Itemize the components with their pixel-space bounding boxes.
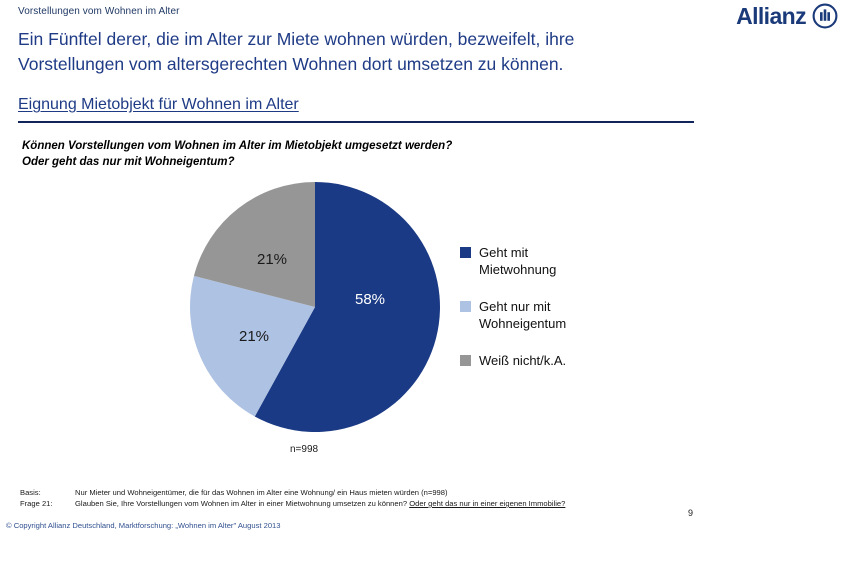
legend-item[interactable]: Geht nur mit Wohneigentum	[460, 298, 660, 332]
legend-item[interactable]: Geht mit Mietwohnung	[460, 244, 660, 278]
legend-item[interactable]: Weiß nicht/k.A.	[460, 352, 660, 369]
footnote-value: Nur Mieter und Wohneigentümer, die für d…	[75, 487, 565, 498]
sample-size-label: n=998	[290, 444, 318, 455]
legend-label: Weiß nicht/k.A.	[479, 352, 566, 369]
legend-swatch-icon	[460, 355, 471, 366]
footnote-key: Frage 21:	[20, 498, 75, 509]
page-title: Ein Fünftel derer, die im Alter zur Miet…	[18, 27, 708, 77]
section-heading: Eignung Mietobjekt für Wohnen im Alter	[18, 96, 299, 114]
pie-label-primary: 58%	[355, 291, 385, 308]
legend-label: Geht nur mit Wohneigentum	[479, 298, 566, 332]
slide-kicker: Vorstellungen vom Wohnen im Alter	[18, 6, 180, 17]
pie-chart-svg	[182, 178, 452, 436]
slide: Vorstellungen vom Wohnen im Alter Allian…	[0, 0, 858, 581]
footnote-row-frage: Frage 21: Glauben Sie, Ihre Vorstellunge…	[20, 498, 565, 509]
section-divider	[18, 121, 694, 123]
allianz-wordmark: Allianz	[736, 5, 806, 28]
footnote-row-basis: Basis: Nur Mieter und Wohneigentümer, di…	[20, 487, 565, 498]
page-number: 9	[688, 508, 693, 518]
copyright-note: © Copyright Allianz Deutschland, Marktfo…	[6, 521, 281, 530]
footnote-question-emphasis: Oder geht das nur in einer eigenen Immob…	[409, 499, 565, 508]
footnote-value: Glauben Sie, Ihre Vorstellungen vom Wohn…	[75, 498, 565, 509]
footnote-question-text: Glauben Sie, Ihre Vorstellungen vom Wohn…	[75, 499, 409, 508]
chart-legend: Geht mit Mietwohnung Geht nur mit Wohnei…	[460, 244, 660, 389]
footnote-key: Basis:	[20, 487, 75, 498]
footnotes: Basis: Nur Mieter und Wohneigentümer, di…	[20, 487, 565, 509]
legend-label: Geht mit Mietwohnung	[479, 244, 556, 278]
legend-swatch-icon	[460, 301, 471, 312]
pie-label-secondary: 21%	[239, 328, 269, 345]
pie-label-tertiary: 21%	[257, 251, 287, 268]
pie-chart: 58% 21% 21%	[182, 178, 452, 436]
allianz-logo: Allianz	[736, 3, 838, 29]
legend-swatch-icon	[460, 247, 471, 258]
question-text: Können Vorstellungen vom Wohnen im Alter…	[22, 138, 642, 170]
allianz-bars-circle-icon	[812, 3, 838, 29]
